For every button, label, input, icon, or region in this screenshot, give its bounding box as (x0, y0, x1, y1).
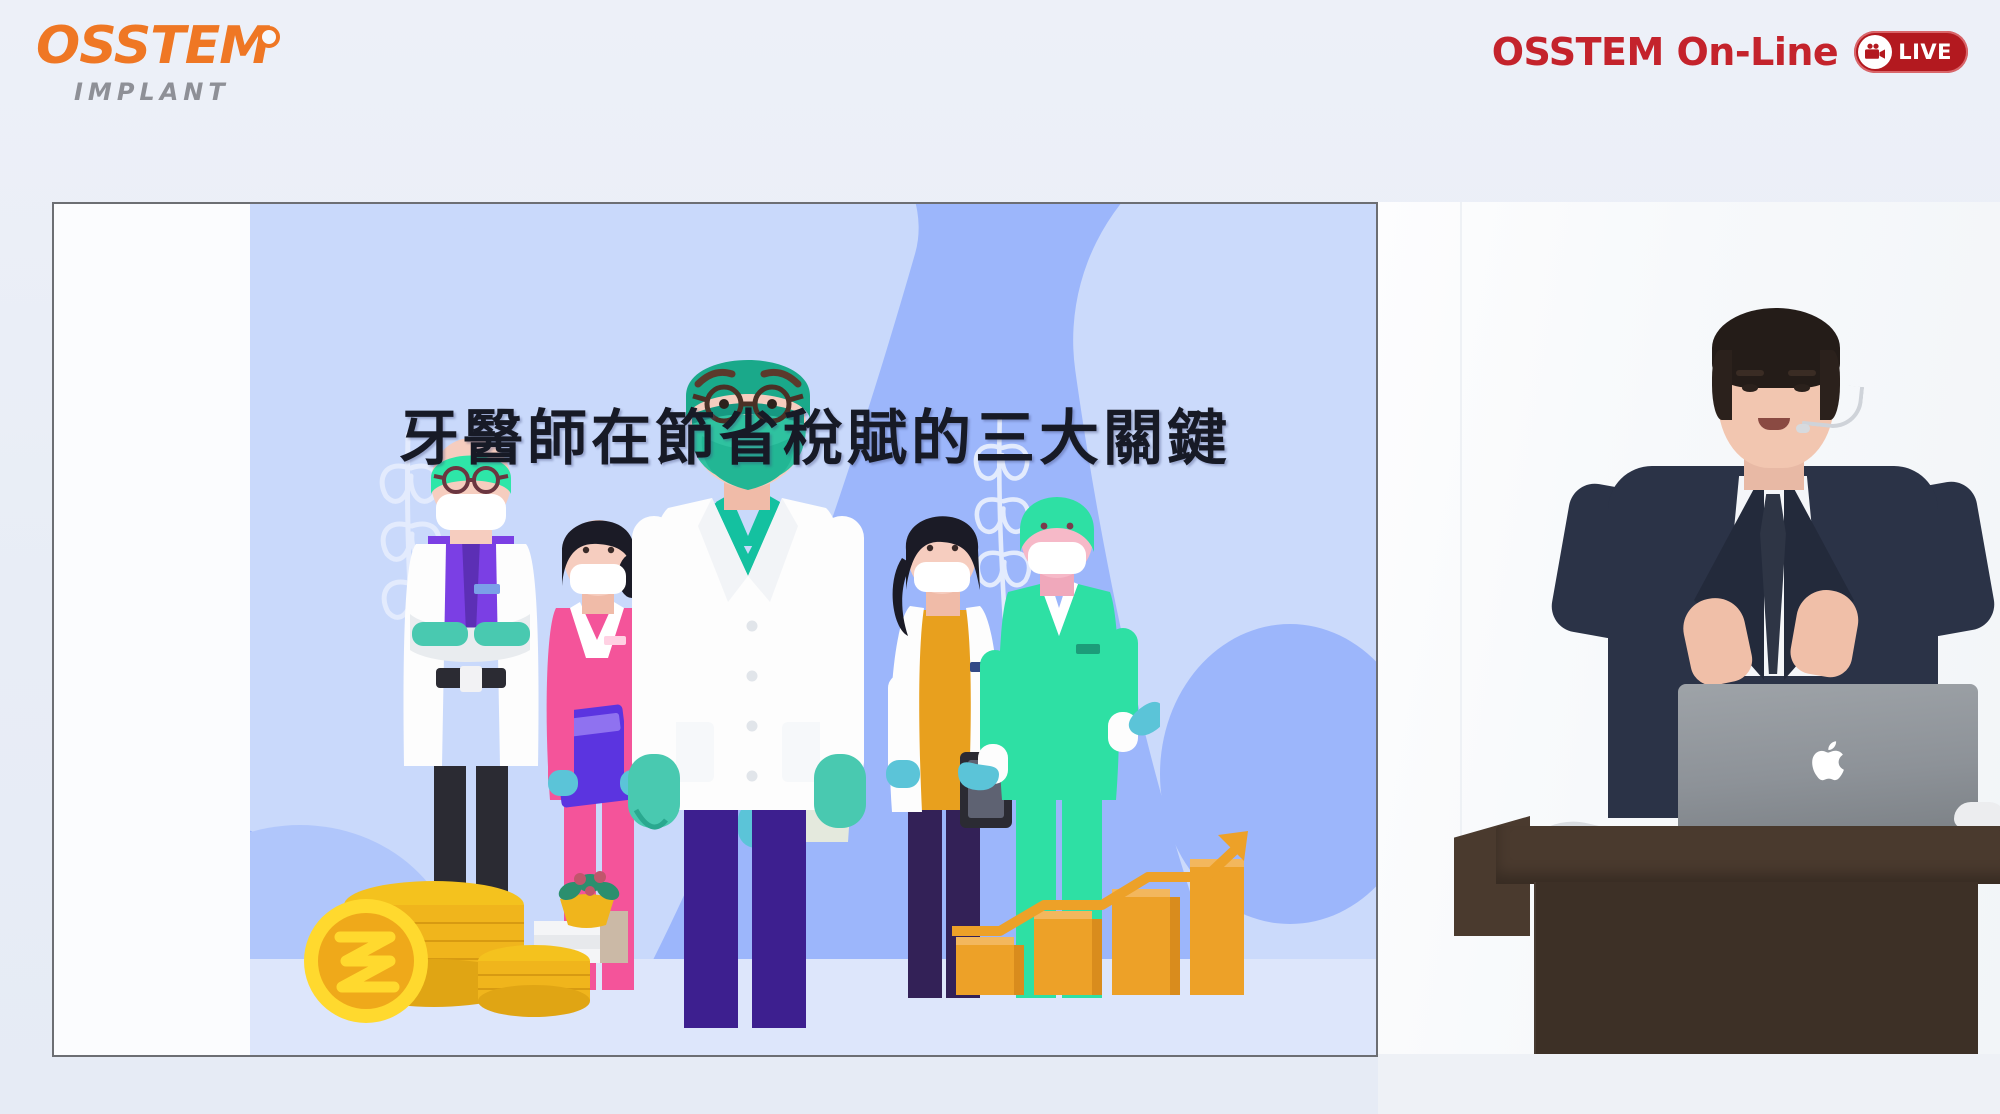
live-status-badge: LIVE (1854, 31, 1968, 73)
osstem-implant-logo: OSSTEM IMPLANT (36, 20, 296, 115)
gold-coin-stack (294, 843, 594, 1033)
header-bar: OSSTEM IMPLANT OSSTEM On-Line LIVE (0, 0, 2000, 140)
brand-wordmark: OSSTEM (36, 20, 296, 72)
slide-white-margin (54, 204, 250, 1055)
registered-dot-icon (258, 26, 280, 48)
speaker-at-podium (1378, 202, 2000, 1114)
eye-left (1742, 384, 1758, 392)
podium-top-surface (1496, 826, 2000, 884)
brand-subtitle: IMPLANT (74, 78, 296, 106)
projected-slide: 牙醫師在節省稅賦的三大關鍵 (52, 202, 1378, 1057)
online-channel-label: OSSTEM On-Line (1492, 30, 1838, 74)
video-camera-icon (1858, 35, 1892, 69)
growth-bar-chart (952, 805, 1252, 995)
currency-coin-face (304, 899, 428, 1023)
hair-side-left (1712, 350, 1732, 420)
dental-team-illustration: 牙醫師在節省稅賦的三大關鍵 (250, 204, 1378, 1055)
wall-seam (1460, 202, 1462, 842)
apple-logo-icon (1812, 738, 1852, 784)
slide-title: 牙醫師在節省稅賦的三大關鍵 (250, 390, 1378, 477)
eyebrow-right (1788, 370, 1816, 376)
live-badge-label: LIVE (1898, 40, 1952, 64)
headset-microphone-icon (1802, 381, 1864, 431)
stage-floor (1378, 1054, 2000, 1114)
eyebrow-left (1736, 370, 1764, 376)
live-channel-group: OSSTEM On-Line LIVE (1492, 24, 1968, 80)
microphone-tip (1796, 424, 1810, 433)
mouse-device (1954, 802, 2000, 828)
